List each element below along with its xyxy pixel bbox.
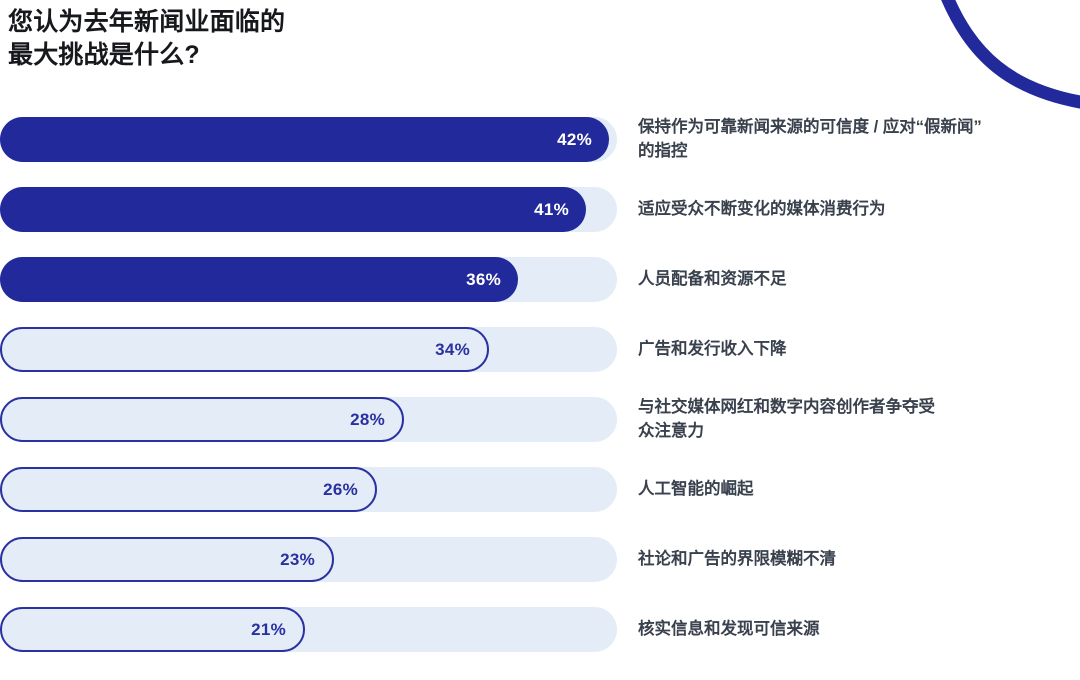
bar-value-label: 21% <box>251 621 303 638</box>
category-label: 保持作为可靠新闻来源的可信度 / 应对“假新闻” 的指控 <box>638 117 1074 162</box>
bar-chart: 42% 保持作为可靠新闻来源的可信度 / 应对“假新闻” 的指控 41% 适应受… <box>0 117 1080 677</box>
chart-row: 36% 人员配备和资源不足 <box>0 257 1080 327</box>
chart-row: 42% 保持作为可靠新闻来源的可信度 / 应对“假新闻” 的指控 <box>0 117 1080 187</box>
category-label: 人员配备和资源不足 <box>638 257 1074 302</box>
bar-fill: 34% <box>0 327 489 372</box>
bar-value-label: 41% <box>534 201 586 218</box>
category-label: 与社交媒体网红和数字内容创作者争夺受 众注意力 <box>638 397 1074 442</box>
chart-row: 34% 广告和发行收入下降 <box>0 327 1080 397</box>
category-label: 核实信息和发现可信来源 <box>638 607 1074 652</box>
page-title: 您认为去年新闻业面临的 最大挑战是什么? <box>8 6 648 72</box>
chart-row: 23% 社论和广告的界限模糊不清 <box>0 537 1080 607</box>
bar-fill: 26% <box>0 467 377 512</box>
bar-fill: 36% <box>0 257 518 302</box>
bar-fill: 23% <box>0 537 334 582</box>
chart-row: 21% 核实信息和发现可信来源 <box>0 607 1080 677</box>
category-label: 适应受众不断变化的媒体消费行为 <box>638 187 1074 232</box>
bar-fill: 41% <box>0 187 586 232</box>
chart-page: 您认为去年新闻业面临的 最大挑战是什么? 42% 保持作为可靠新闻来源的可信度 … <box>0 0 1080 680</box>
bar-fill: 28% <box>0 397 404 442</box>
bar-value-label: 28% <box>350 411 402 428</box>
bar-value-label: 23% <box>280 551 332 568</box>
bar-fill: 21% <box>0 607 305 652</box>
bar-fill: 42% <box>0 117 609 162</box>
bar-value-label: 42% <box>557 131 609 148</box>
chart-row: 41% 适应受众不断变化的媒体消费行为 <box>0 187 1080 257</box>
corner-arc-icon <box>930 0 1080 120</box>
category-label: 人工智能的崛起 <box>638 467 1074 512</box>
chart-row: 28% 与社交媒体网红和数字内容创作者争夺受 众注意力 <box>0 397 1080 467</box>
category-label: 社论和广告的界限模糊不清 <box>638 537 1074 582</box>
category-label: 广告和发行收入下降 <box>638 327 1074 372</box>
bar-value-label: 26% <box>323 481 375 498</box>
chart-row: 26% 人工智能的崛起 <box>0 467 1080 537</box>
bar-value-label: 36% <box>466 271 518 288</box>
bar-value-label: 34% <box>435 341 487 358</box>
